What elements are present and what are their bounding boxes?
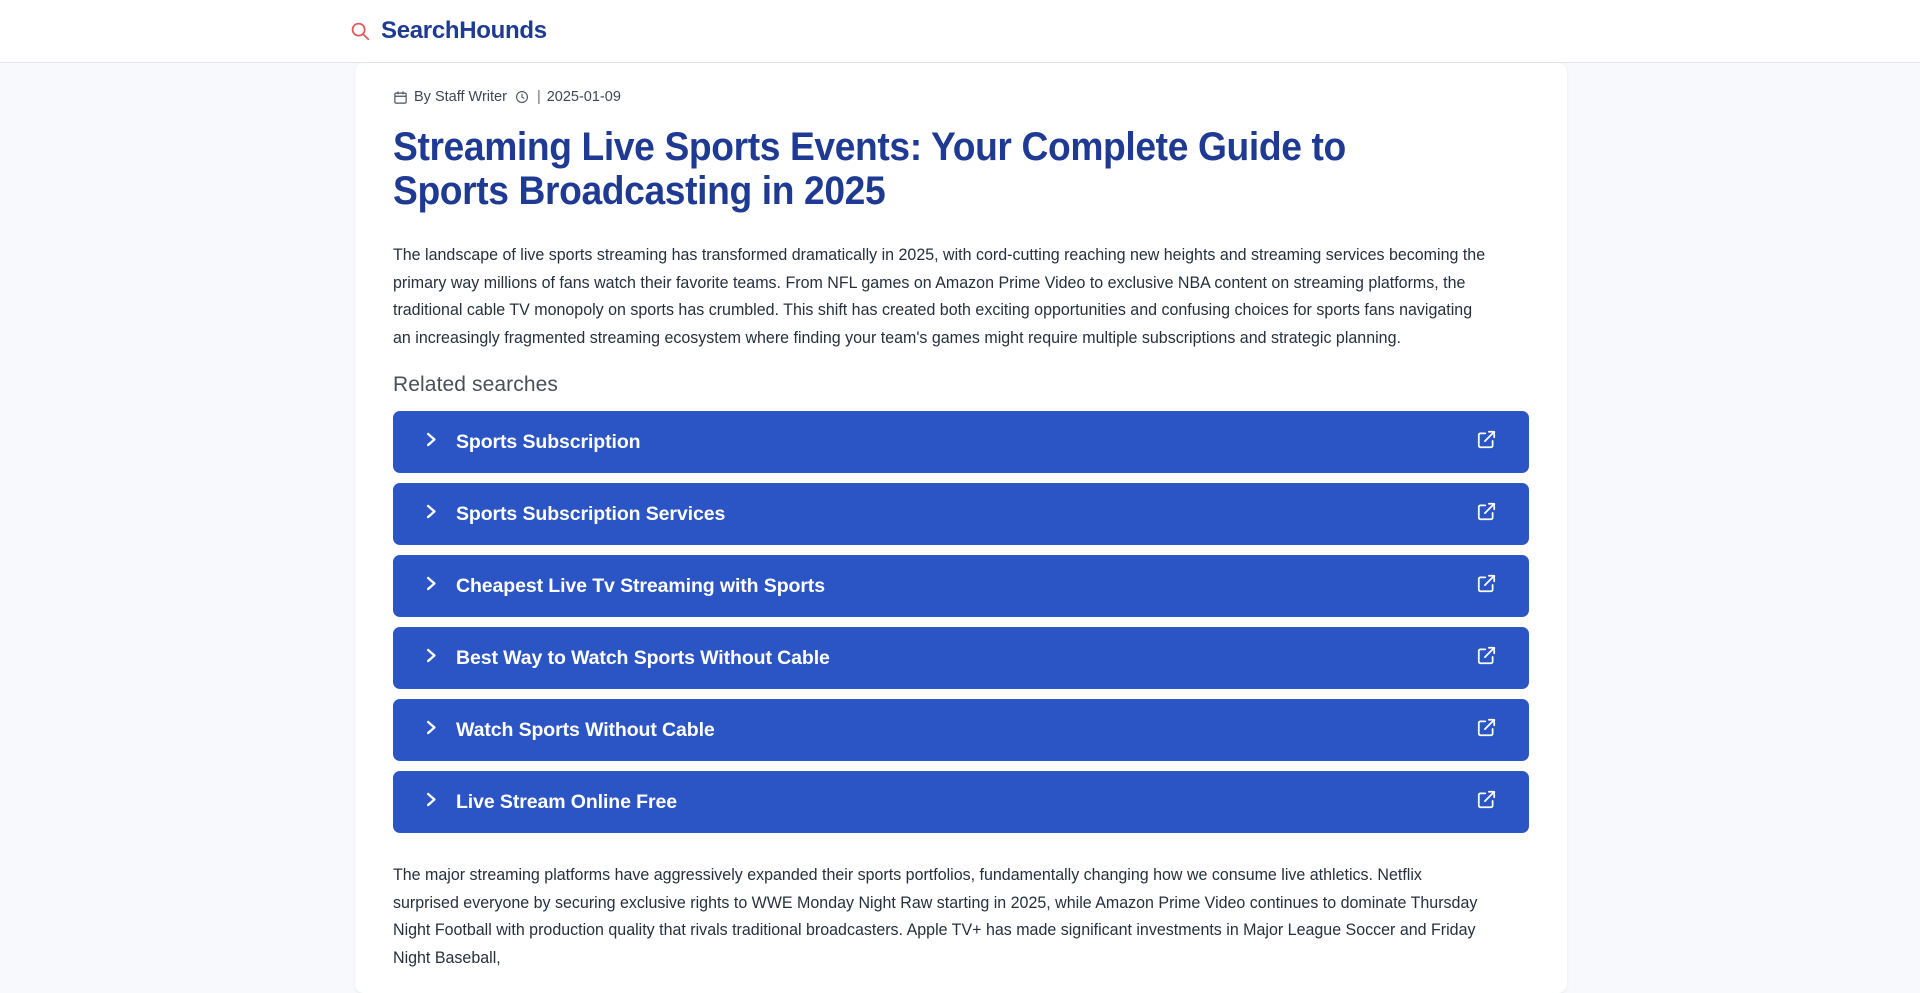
external-link-icon[interactable] [1476,789,1497,815]
byline-author: By Staff Writer [414,89,507,105]
brand-name: SearchHounds [381,17,547,45]
intro-paragraph: The landscape of live sports streaming h… [393,241,1489,351]
chevron-right-icon [421,574,456,598]
related-search-label: Best Way to Watch Sports Without Cable [456,647,1476,670]
external-link-icon[interactable] [1476,573,1497,599]
chevron-right-icon [421,718,456,742]
related-search-item[interactable]: Cheapest Live Tv Streaming with Sports [393,555,1529,617]
related-search-item[interactable]: Watch Sports Without Cable [393,699,1529,761]
chevron-right-icon [421,502,456,526]
related-searches-list: Sports Subscription Sports Subscription … [393,411,1529,833]
outro-paragraph: The major streaming platforms have aggre… [393,861,1489,971]
related-search-item[interactable]: Sports Subscription Services [393,483,1529,545]
chevron-right-icon [421,646,456,670]
related-search-label: Watch Sports Without Cable [456,719,1476,742]
related-searches-heading: Related searches [393,373,1529,397]
external-link-icon[interactable] [1476,645,1497,671]
related-search-label: Sports Subscription Services [456,503,1476,526]
related-search-label: Sports Subscription [456,431,1476,454]
byline-date: 2025-01-09 [547,89,621,105]
calendar-icon [393,90,408,105]
related-search-label: Cheapest Live Tv Streaming with Sports [456,575,1476,598]
external-link-icon[interactable] [1476,501,1497,527]
article-card: By Staff Writer | 2025-01-09 Streaming L… [355,63,1567,993]
external-link-icon[interactable] [1476,429,1497,455]
chevron-right-icon [421,430,456,454]
page-title: Streaming Live Sports Events: Your Compl… [393,125,1449,213]
chevron-right-icon [421,790,456,814]
clock-icon [515,90,529,104]
site-header: SearchHounds [0,0,1920,63]
external-link-icon[interactable] [1476,717,1497,743]
search-icon [349,20,371,42]
related-search-item[interactable]: Live Stream Online Free [393,771,1529,833]
article-byline: By Staff Writer | 2025-01-09 [393,89,1529,105]
brand-logo[interactable]: SearchHounds [349,17,547,45]
related-search-item[interactable]: Sports Subscription [393,411,1529,473]
page-body: By Staff Writer | 2025-01-09 Streaming L… [0,63,1920,993]
related-search-item[interactable]: Best Way to Watch Sports Without Cable [393,627,1529,689]
byline-separator: | [537,89,541,105]
related-search-label: Live Stream Online Free [456,791,1476,814]
